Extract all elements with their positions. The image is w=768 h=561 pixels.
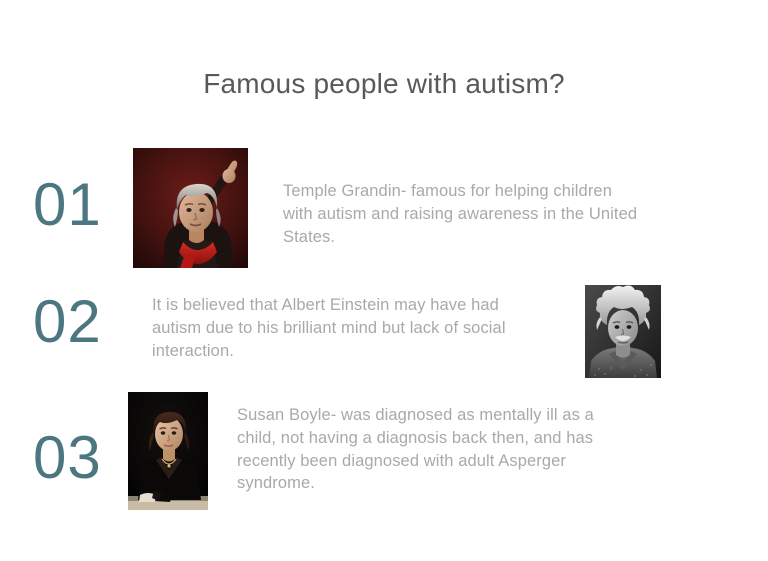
- item-number-02: 02: [33, 292, 102, 352]
- item-text-02: It is believed that Albert Einstein may …: [152, 294, 522, 362]
- item-number-01: 01: [33, 175, 102, 235]
- page-title: Famous people with autism?: [0, 68, 768, 100]
- item-text-03: Susan Boyle- was diagnosed as mentally i…: [237, 404, 632, 495]
- slide-canvas: Famous people with autism? 01: [0, 0, 768, 561]
- item-text-01: Temple Grandin- famous for helping child…: [283, 180, 638, 248]
- susan-boyle-image: [128, 392, 208, 510]
- temple-grandin-photo: [133, 148, 248, 268]
- susan-boyle-photo: [128, 392, 208, 510]
- temple-grandin-image: [133, 148, 248, 268]
- albert-einstein-photo: [585, 285, 661, 378]
- item-number-03: 03: [33, 428, 102, 488]
- albert-einstein-image: [585, 285, 661, 378]
